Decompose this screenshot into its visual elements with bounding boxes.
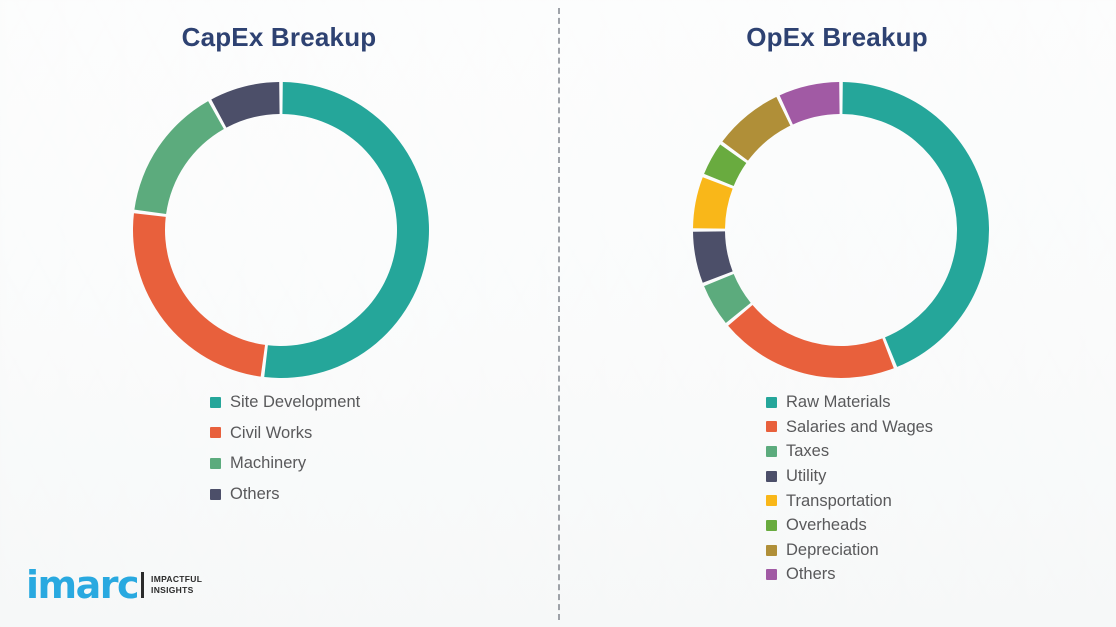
legend-label: Civil Works [230,423,312,444]
donut-slice [722,97,790,161]
legend-item[interactable]: Overheads [766,515,933,536]
legend-swatch-icon [210,489,221,500]
legend-swatch-icon [766,446,777,457]
legend-label: Taxes [786,441,829,462]
opex-donut-chart [691,80,991,380]
donut-slice [134,101,223,214]
capex-title: CapEx Breakup [0,22,558,53]
legend-label: Depreciation [786,540,879,561]
legend-item[interactable]: Transportation [766,491,933,512]
donut-slice [133,213,265,376]
legend-swatch-icon [210,427,221,438]
capex-legend: Site DevelopmentCivil WorksMachineryOthe… [210,392,360,515]
legend-item[interactable]: Civil Works [210,423,360,444]
legend-label: Site Development [230,392,360,413]
imarc-logo: imarc IMPACTFUL INSIGHTS [26,566,202,604]
legend-item[interactable]: Utility [766,466,933,487]
legend-label: Others [786,564,836,585]
legend-swatch-icon [766,397,777,408]
donut-slice [211,82,279,128]
donut-slice [842,82,989,367]
legend-item[interactable]: Salaries and Wages [766,417,933,438]
legend-label: Raw Materials [786,392,891,413]
legend-swatch-icon [210,397,221,408]
donut-slice [728,305,894,378]
logo-divider-bar [141,572,144,598]
legend-swatch-icon [766,495,777,506]
legend-label: Overheads [786,515,867,536]
legend-label: Transportation [786,491,892,512]
legend-item[interactable]: Site Development [210,392,360,413]
legend-item[interactable]: Machinery [210,453,360,474]
legend-swatch-icon [766,421,777,432]
legend-item[interactable]: Others [210,484,360,505]
legend-swatch-icon [766,520,777,531]
capex-donut-chart [131,80,431,380]
legend-swatch-icon [210,458,221,469]
logo-tagline: IMPACTFUL INSIGHTS [151,574,202,595]
legend-swatch-icon [766,471,777,482]
legend-label: Salaries and Wages [786,417,933,438]
donut-slice [693,231,733,282]
logo-wordmark: imarc [26,566,138,604]
donut-slice [693,177,733,228]
logo-tagline-line2: INSIGHTS [151,585,194,595]
legend-label: Machinery [230,453,306,474]
legend-label: Others [230,484,280,505]
legend-item[interactable]: Others [766,564,933,585]
legend-item[interactable]: Raw Materials [766,392,933,413]
donut-slice [780,82,840,124]
donut-slice [264,82,429,378]
legend-swatch-icon [766,569,777,580]
legend-item[interactable]: Depreciation [766,540,933,561]
infographic-root: CapEx Breakup Site DevelopmentCivil Work… [0,0,1116,627]
legend-label: Utility [786,466,826,487]
opex-panel: OpEx Breakup Raw MaterialsSalaries and W… [558,0,1116,627]
opex-legend: Raw MaterialsSalaries and WagesTaxesUtil… [766,392,933,589]
logo-tagline-line1: IMPACTFUL [151,574,202,584]
legend-swatch-icon [766,545,777,556]
legend-item[interactable]: Taxes [766,441,933,462]
opex-donut-svg [691,80,991,380]
capex-panel: CapEx Breakup Site DevelopmentCivil Work… [0,0,558,627]
capex-donut-svg [131,80,431,380]
opex-title: OpEx Breakup [558,22,1116,53]
